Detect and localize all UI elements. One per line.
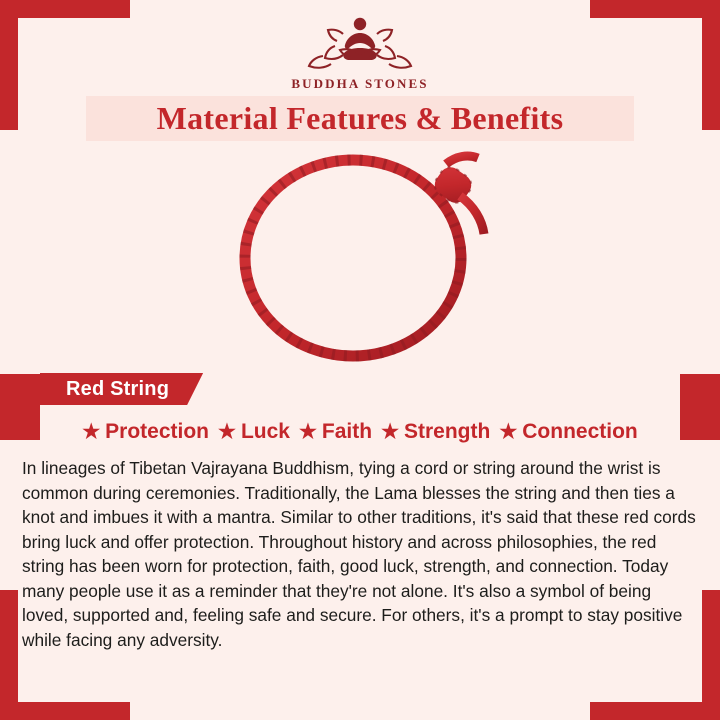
benefit-keyword: ★ Connection <box>490 420 637 444</box>
benefit-keyword-label: Protection <box>105 420 209 444</box>
benefit-keyword-label: Luck <box>241 420 290 444</box>
description-text: In lineages of Tibetan Vajrayana Buddhis… <box>22 456 698 652</box>
lotus-meditation-figure-icon <box>301 12 419 74</box>
benefit-keyword-label: Strength <box>404 420 490 444</box>
star-icon: ★ <box>82 422 100 442</box>
benefit-keyword-row: ★ Protection ★ Luck ★ Faith ★ Strength ★… <box>0 420 720 444</box>
page-title: Material Features & Benefits <box>157 100 564 137</box>
corner-decoration-bottom-right-vertical <box>702 590 720 720</box>
benefit-keyword-label: Connection <box>522 420 638 444</box>
infographic-page: BUDDHA STONES Material Features & Benefi… <box>0 0 720 720</box>
benefit-keyword: ★ Protection <box>82 420 209 444</box>
corner-decoration-bottom-left-vertical <box>0 590 18 720</box>
benefit-keyword: ★ Luck <box>209 420 290 444</box>
product-label-text: Red String <box>66 378 169 401</box>
star-icon: ★ <box>381 422 399 442</box>
red-braided-string-bracelet-icon <box>198 138 528 378</box>
star-icon: ★ <box>499 422 517 442</box>
star-icon: ★ <box>218 422 236 442</box>
brand-logo: BUDDHA STONES <box>0 12 720 92</box>
star-icon: ★ <box>299 422 317 442</box>
product-label-ribbon: Red String <box>40 373 203 405</box>
title-banner: Material Features & Benefits <box>86 96 634 141</box>
corner-decoration-bottom-left <box>0 702 130 720</box>
brand-name: BUDDHA STONES <box>291 76 428 92</box>
benefit-keyword: ★ Faith <box>290 420 372 444</box>
corner-decoration-bottom-right <box>590 702 720 720</box>
product-image-area <box>0 142 720 374</box>
benefit-keyword: ★ Strength <box>372 420 490 444</box>
benefit-keyword-label: Faith <box>322 420 372 444</box>
